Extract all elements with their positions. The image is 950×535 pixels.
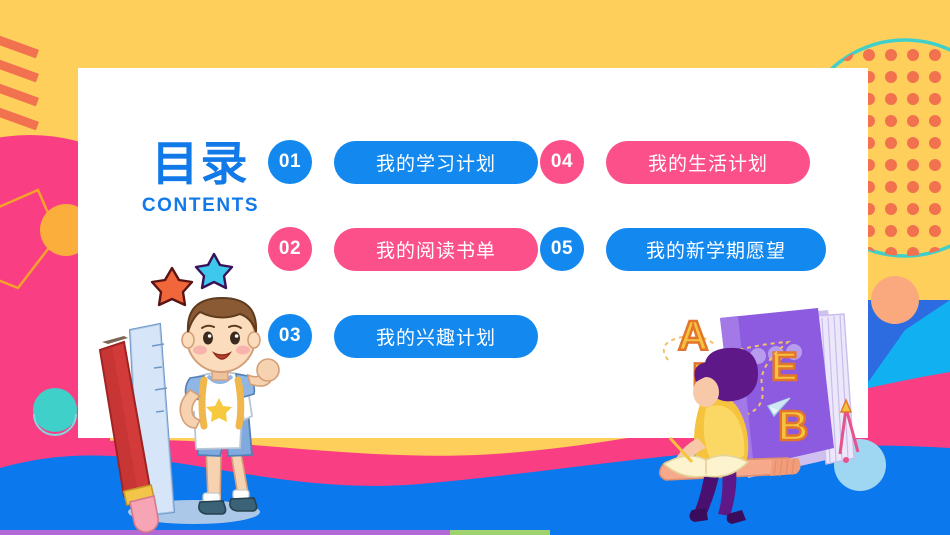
orange-star-icon	[152, 268, 192, 305]
menu-label-05[interactable]: 我的新学期愿望	[606, 228, 826, 271]
schoolboy-illustration-svg	[90, 250, 290, 535]
menu-item-05[interactable]: 05 我的新学期愿望	[540, 227, 826, 271]
schoolboy-figure	[180, 298, 279, 514]
badge-04[interactable]: 04	[540, 140, 584, 184]
slide-root: 目录 CONTENTS 01 我的学习计划 02 我的阅读书单 03 我的兴趣计…	[0, 0, 950, 535]
cyan-star-icon	[196, 254, 232, 288]
letter-e-decoration: E	[771, 345, 798, 389]
svg-text:A: A	[678, 312, 708, 359]
letter-b-decoration: B	[778, 402, 808, 449]
right-illustration: A E D B	[648, 288, 898, 535]
girl-reading-illustration-svg: A E D B	[648, 288, 898, 535]
menu-item-02[interactable]: 02 我的阅读书单	[268, 227, 538, 271]
menu-item-03[interactable]: 03 我的兴趣计划	[268, 314, 538, 358]
page-title: 目录 CONTENTS	[133, 141, 268, 215]
left-illustration	[90, 250, 290, 535]
badge-05[interactable]: 05	[540, 227, 584, 271]
title-english: CONTENTS	[133, 196, 268, 215]
title-chinese: 目录	[133, 141, 268, 188]
menu-label-02[interactable]: 我的阅读书单	[334, 228, 538, 271]
menu-label-04[interactable]: 我的生活计划	[606, 141, 810, 184]
badge-01[interactable]: 01	[268, 140, 312, 184]
menu-item-04[interactable]: 04 我的生活计划	[540, 140, 810, 184]
girl-figure	[664, 348, 758, 524]
menu-label-03[interactable]: 我的兴趣计划	[334, 315, 538, 358]
menu-item-01[interactable]: 01 我的学习计划	[268, 140, 538, 184]
letter-a-decoration: A	[678, 312, 708, 359]
menu-label-01[interactable]: 我的学习计划	[334, 141, 538, 184]
